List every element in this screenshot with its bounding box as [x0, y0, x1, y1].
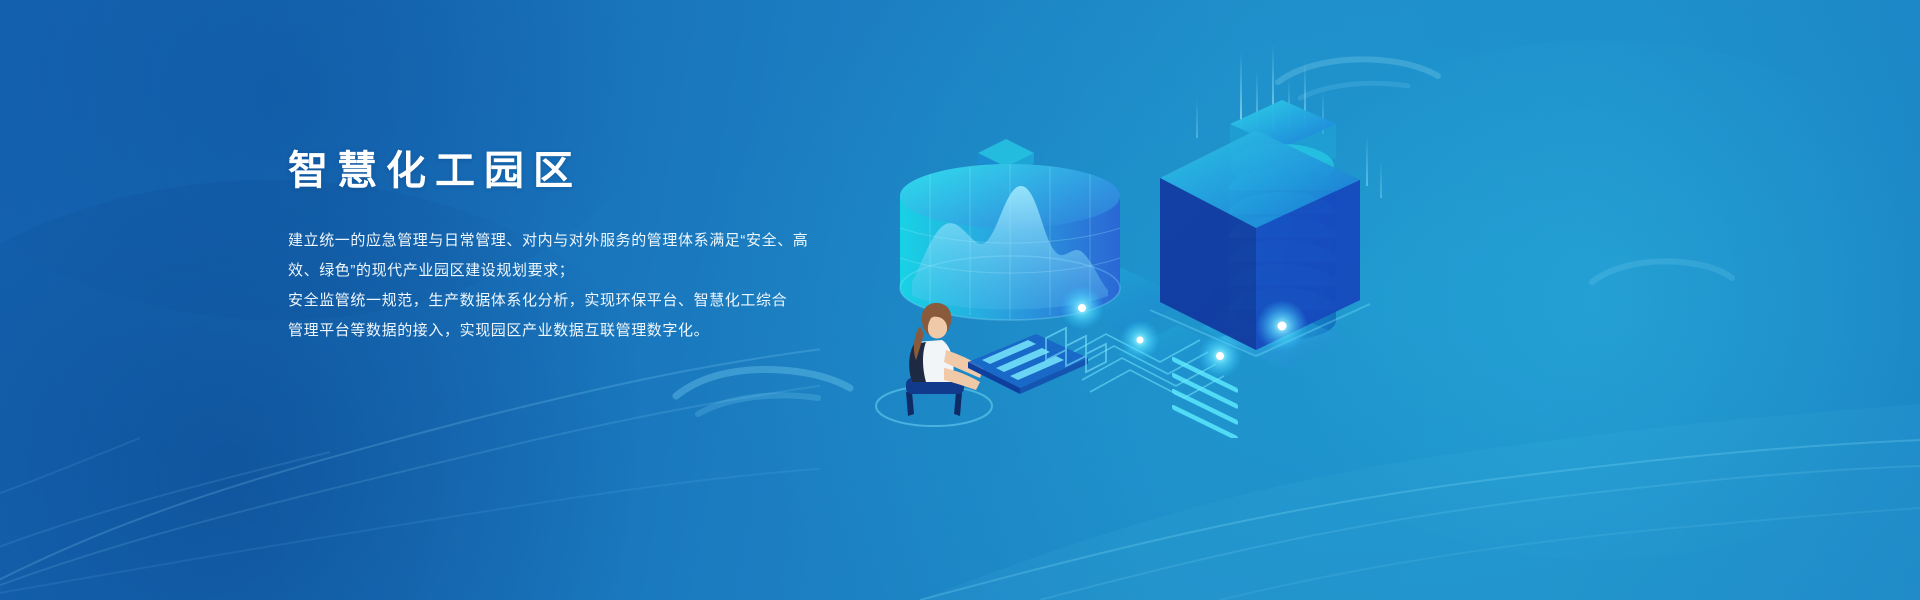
description-line: 效、绿色”的现代产业园区建设规划要求； [288, 256, 908, 286]
floating-layer-cubes-icon [978, 139, 1036, 199]
mini-bar-chart-icon [1046, 328, 1106, 372]
smart-park-illustration [860, 38, 1400, 438]
data-cylinder-chart-icon [900, 164, 1120, 320]
description-line: 安全监管统一规范，生产数据体系化分析，实现环保平台、智慧化工综合 [288, 286, 908, 316]
light-beams-right-icon [1366, 134, 1382, 198]
description-line: 建立统一的应急管理与日常管理、对内与对外服务的管理体系满足“安全、高 [288, 226, 908, 256]
page-title: 智慧化工园区 [288, 146, 908, 196]
light-beams-icon [1196, 44, 1324, 138]
decorative-curves-right [920, 300, 1920, 600]
background-glow-right [1220, 40, 1920, 560]
description-line: 管理平台等数据的接入，实现园区产业数据互联管理数字化。 [288, 316, 908, 346]
cloud-ribbon-icon [668, 352, 858, 422]
isometric-floor-plates [1056, 268, 1330, 383]
hero-banner: 智慧化工园区 建立统一的应急管理与日常管理、对内与对外服务的管理体系满足“安全、… [0, 0, 1920, 600]
cloud-ribbon-icon [1586, 250, 1736, 302]
server-rack-building-icon [1150, 38, 1370, 438]
glowing-nodes-icon [1060, 286, 1308, 378]
circuit-trace-lines [1066, 334, 1224, 398]
server-tower-tall-icon [1220, 100, 1346, 368]
keyboard-icon [968, 334, 1088, 394]
cloud-ribbon-icon [1272, 46, 1442, 104]
banner-description: 建立统一的应急管理与日常管理、对内与对外服务的管理体系满足“安全、高 效、绿色”… [288, 226, 908, 346]
banner-copy-block: 智慧化工园区 建立统一的应急管理与日常管理、对内与对外服务的管理体系满足“安全、… [288, 146, 908, 346]
